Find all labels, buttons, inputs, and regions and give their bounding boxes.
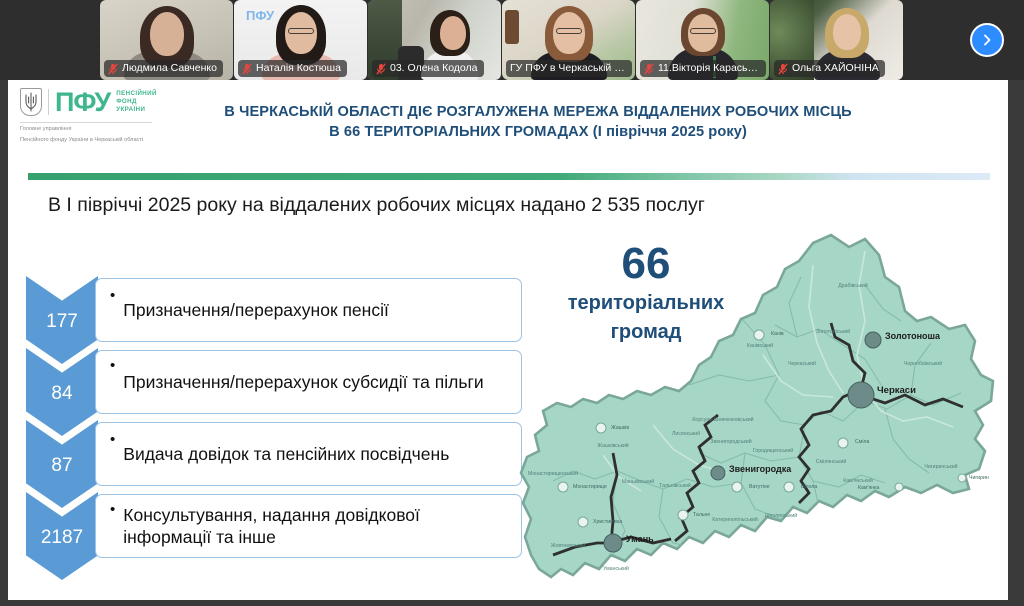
filmstrip-next-button[interactable] [970,23,1004,57]
svg-text:Монастирищенський: Монастирищенський [528,470,578,477]
mic-muted-icon [242,63,252,75]
logo-divider [48,89,49,115]
participant-name-bar: Наталія Костюша [238,60,347,77]
svg-text:Чигиринський: Чигиринський [924,463,957,470]
participant-name: Наталія Костюша [256,62,341,75]
slide-left-edge [0,80,8,606]
svg-text:Корсунь-Шевченковський: Корсунь-Шевченковський [692,416,753,423]
pfu-fullname-line3: УКРАЇНИ [116,106,157,114]
bullet-icon: • [110,288,115,303]
department-line-2: Пенсійного фонду України в Черкаській об… [20,137,180,145]
services-list: 177 • Призначення/перерахунок пенсії 84 … [26,276,522,564]
svg-text:Уманський: Уманський [603,565,629,572]
communities-number: 66 [536,240,756,288]
slide-subtitle: В І півріччі 2025 року на віддалених роб… [48,192,705,218]
participant-tile[interactable]: 03. Олена Кодола [368,0,501,80]
list-item: 84 • Призначення/перерахунок субсидії та… [26,348,522,416]
slide-title-line-2: В 66 ТЕРИТОРІАЛЬНИХ ГРОМАДАХ (І півріччя… [183,122,893,142]
communities-highlight: 66 територіальних громад [536,240,756,346]
bullet-icon: • [110,358,115,373]
svg-text:Драбівський: Драбівський [838,282,868,289]
list-item: 177 • Призначення/перерахунок пенсії [26,276,522,344]
item-label: Консультування, надання довідкової інфор… [123,504,511,548]
svg-text:Жашків: Жашків [611,425,629,431]
svg-text:Канів: Канів [771,331,784,337]
mic-muted-icon [108,63,118,75]
mic-muted-icon [644,63,654,75]
participant-tile[interactable]: Ольга ХАЙОНІНА [770,0,903,80]
svg-text:Шполянський: Шполянський [765,512,797,519]
pfu-fullname-line1: ПЕНСІЙНИЙ [116,90,157,98]
presentation-slide: ПФУ ПЕНСІЙНИЙ ФОНД УКРАЇНИ Головне управ… [8,80,1008,600]
participant-name-bar: 11.Вікторія Карасьова [640,60,766,77]
slide-title: В ЧЕРКАСЬКІЙ ОБЛАСТІ ДІЄ РОЗГАЛУЖЕНА МЕР… [183,102,893,142]
slide-bottom-edge [0,600,1024,606]
participant-filmstrip: Людмила Савченко ПФУ Наталія Кос [0,0,1024,80]
communities-caption-line-1: територіальних [536,290,756,317]
mic-muted-icon [376,63,386,75]
participant-tiles: Людмила Савченко ПФУ Наталія Кос [100,0,904,80]
participant-tile[interactable]: 11.Вікторія Карасьова [636,0,769,80]
participant-name-bar: ГУ ПФУ в Черкаській об… [506,60,632,77]
slide-title-line-1: В ЧЕРКАСЬКІЙ ОБЛАСТІ ДІЄ РОЗГАЛУЖЕНА МЕР… [183,102,893,122]
svg-text:Тальне: Тальне [693,512,710,518]
item-label: Видача довідок та пенсійних посвідчень [123,443,449,465]
filmstrip-left-padding [0,0,100,80]
item-count: 87 [51,455,72,477]
svg-text:Жовтневський: Жовтневський [551,542,586,549]
pfu-abbr: ПФУ [55,89,110,116]
svg-text:Городищенський: Городищенський [753,447,793,454]
svg-text:Золотоноша: Золотоноша [885,331,941,341]
svg-text:Сміла: Сміла [855,439,869,445]
background-watermark: ПФУ [246,8,274,23]
item-box: • Видача довідок та пенсійних посвідчень [95,422,522,486]
participant-name: ГУ ПФУ в Черкаській об… [510,62,626,75]
department-line-1: Головне управління [20,126,180,134]
screen-root: Людмила Савченко ПФУ Наталія Кос [0,0,1024,606]
pfu-fullname: ПЕНСІЙНИЙ ФОНД УКРАЇНИ [116,90,157,115]
item-box: • Призначення/перерахунок субсидії та пі… [95,350,522,414]
participant-name: 11.Вікторія Карасьова [658,62,760,75]
svg-text:Катеринопільський: Катеринопільський [712,516,758,523]
participant-name: Людмила Савченко [122,62,217,75]
participant-name-bar: Ольга ХАЙОНІНА [774,60,885,77]
svg-text:Лисянський: Лисянський [672,430,700,437]
item-box: • Призначення/перерахунок пенсії [95,278,522,342]
svg-text:Смілянський: Смілянський [816,458,847,465]
item-box: • Консультування, надання довідкової інф… [95,494,522,558]
chevron-badge: 2187 [26,492,98,580]
item-count: 2187 [41,527,83,549]
svg-text:Чигирин: Чигирин [969,475,989,481]
svg-text:Золотоніський: Золотоніський [816,328,850,335]
bullet-icon: • [110,502,115,517]
svg-text:Кам'янка: Кам'янка [858,485,880,491]
shared-screen-area: ПФУ ПЕНСІЙНИЙ ФОНД УКРАЇНИ Головне управ… [0,80,1024,606]
accent-gradient-bar [28,173,990,180]
participant-tile-active-speaker[interactable]: ГУ ПФУ в Черкаській об… [502,0,635,80]
item-count: 177 [46,311,78,333]
svg-text:Черкаси: Черкаси [877,385,916,396]
participant-name-bar: 03. Олена Кодола [372,60,484,77]
ukraine-trident-icon [20,88,42,116]
item-label: Призначення/перерахунок пенсії [123,299,389,321]
svg-text:Кам'янський: Кам'янський [843,477,873,484]
item-count: 84 [51,383,72,405]
svg-text:Шпола: Шпола [801,484,817,490]
svg-text:Монастирище: Монастирище [573,484,607,490]
svg-text:Черкаський: Черкаський [788,360,816,367]
svg-text:Жашківський: Жашківський [597,442,628,449]
participant-tile[interactable]: Людмила Савченко [100,0,233,80]
svg-text:Тальнівський: Тальнівський [659,482,691,489]
svg-text:Звенигородка: Звенигородка [729,464,792,474]
communities-caption-line-2: громад [536,319,756,346]
chevron-right-icon [980,33,994,47]
participant-name: 03. Олена Кодола [390,62,478,75]
item-label: Призначення/перерахунок субсидії та піль… [123,371,483,393]
mic-muted-icon [778,63,788,75]
slide-right-edge [1008,80,1024,606]
bullet-icon: • [110,432,115,447]
list-item: 87 • Видача довідок та пенсійних посвідч… [26,420,522,488]
participant-name: Ольга ХАЙОНІНА [792,62,879,75]
svg-text:Христинівка: Христинівка [593,519,622,525]
svg-text:Умань: Умань [626,534,654,544]
svg-text:Маньківський: Маньківський [622,478,654,485]
logo-rule [20,122,152,123]
pfu-logo-block: ПФУ ПЕНСІЙНИЙ ФОНД УКРАЇНИ Головне управ… [20,88,180,144]
participant-name-bar: Людмила Савченко [104,60,223,77]
svg-text:Ватутіне: Ватутіне [749,484,770,490]
svg-text:Чорнобаївський: Чорнобаївський [904,360,942,367]
list-item: 2187 • Консультування, надання довідково… [26,492,522,560]
pfu-fullname-line2: ФОНД [116,98,157,106]
svg-text:Звенигородський: Звенигородський [710,438,751,445]
participant-tile[interactable]: ПФУ Наталія Костюша [234,0,367,80]
